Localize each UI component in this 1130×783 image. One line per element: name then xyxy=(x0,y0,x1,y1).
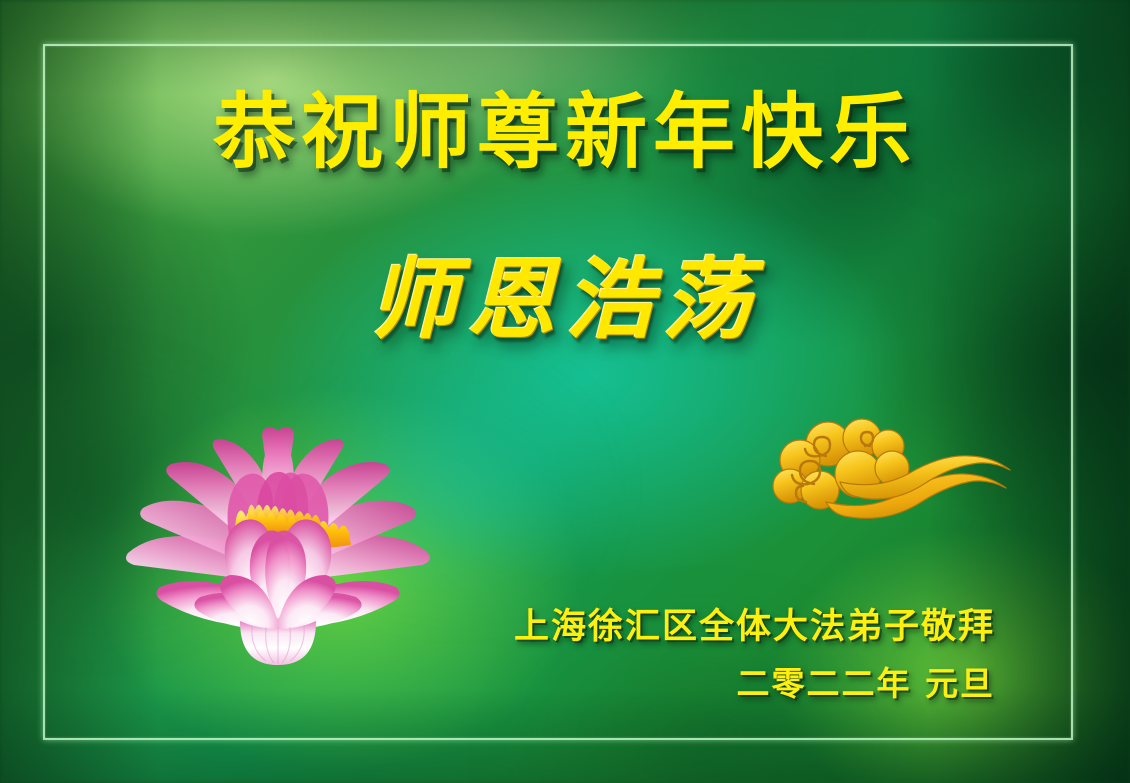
greeting-card: 恭祝师尊新年快乐 师恩浩荡 上海徐汇区全体大法弟子敬拜 二零二二年 元旦 xyxy=(0,0,1130,783)
headline-greeting: 恭祝师尊新年快乐 xyxy=(0,92,1130,174)
signature-line: 上海徐汇区全体大法弟子敬拜 xyxy=(514,610,995,645)
date-line: 二零二二年 元旦 xyxy=(737,667,996,700)
lotus-flower-illustration xyxy=(118,415,438,665)
auspicious-cloud-ornament xyxy=(766,416,1016,526)
subline-phrase: 师恩浩荡 xyxy=(0,255,1130,343)
